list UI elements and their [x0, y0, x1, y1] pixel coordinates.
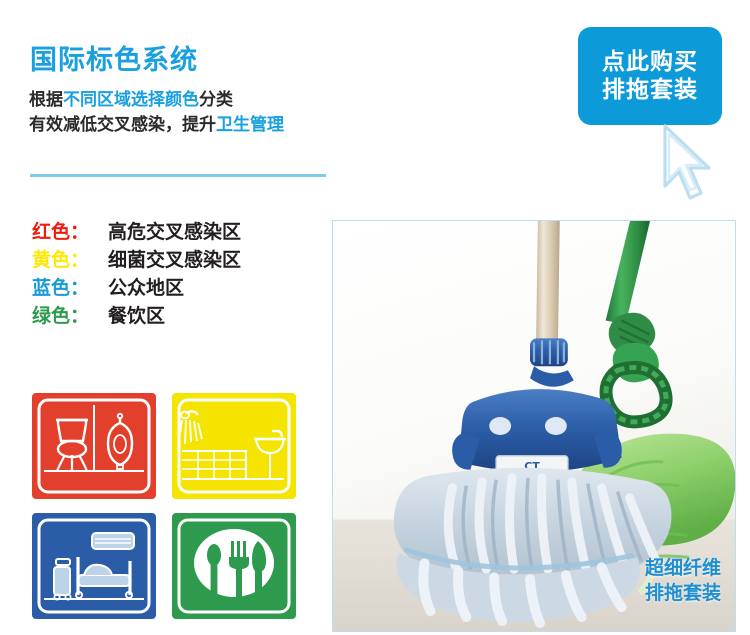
- toilet-urinal-icon: [32, 393, 156, 499]
- promo-page: 国际标色系统 根据不同区域选择颜色分类 有效减低交叉感染，提升卫生管理 红色： …: [0, 0, 750, 635]
- product-photo: CT: [332, 220, 736, 632]
- color-code-legend: 红色： 高危交叉感染区 黄色： 细菌交叉感染区 蓝色： 公众地区 绿色： 餐饮区: [32, 218, 241, 330]
- zone-tile-blue: [32, 513, 156, 619]
- photo-caption-line-1: 超细纤维: [645, 556, 721, 582]
- zone-tile-green: [172, 513, 296, 619]
- subtitle-line1-pre: 根据: [29, 90, 63, 110]
- hotel-bed-icon: [32, 513, 156, 619]
- legend-row-yellow: 黄色： 细菌交叉感染区: [32, 246, 241, 274]
- subtitle-line1-post: 分类: [199, 90, 233, 110]
- legend-row-green: 绿色： 餐饮区: [32, 302, 241, 330]
- subtitle-line-2: 有效减低交叉感染，提升卫生管理: [29, 113, 284, 138]
- legend-value-blue: 公众地区: [108, 274, 184, 302]
- legend-value-yellow: 细菌交叉感染区: [108, 246, 241, 274]
- subtitle-line2-highlight: 卫生管理: [216, 115, 284, 135]
- buy-now-line-1: 点此购买: [602, 48, 698, 76]
- subtitle-block: 根据不同区域选择颜色分类 有效减低交叉感染，提升卫生管理: [29, 88, 284, 137]
- buy-now-line-2: 排拖套装: [602, 76, 698, 104]
- zone-tile-red: [32, 393, 156, 499]
- legend-key-green: 绿色：: [32, 302, 100, 330]
- page-title: 国际标色系统: [30, 46, 198, 76]
- subtitle-line-1: 根据不同区域选择颜色分类: [29, 88, 284, 113]
- buy-now-button[interactable]: 点此购买 排拖套装: [578, 27, 722, 125]
- section-divider: [30, 174, 326, 177]
- subtitle-line1-highlight: 不同区域选择颜色: [63, 90, 199, 110]
- zone-tile-yellow: [172, 393, 296, 499]
- photo-caption: 超细纤维 排拖套装: [645, 556, 721, 607]
- legend-row-blue: 蓝色： 公众地区: [32, 274, 241, 302]
- legend-key-yellow: 黄色：: [32, 246, 100, 274]
- legend-key-red: 红色：: [32, 218, 100, 246]
- zone-pictogram-grid: [32, 393, 296, 619]
- photo-caption-line-2: 排拖套装: [645, 581, 721, 607]
- cutlery-plate-icon: [172, 513, 296, 619]
- subtitle-line2-pre: 有效减低交叉感染，提升: [29, 115, 216, 135]
- shower-washbasin-icon: [172, 393, 296, 499]
- legend-value-green: 餐饮区: [108, 302, 165, 330]
- legend-row-red: 红色： 高危交叉感染区: [32, 218, 241, 246]
- cursor-arrow-icon: [659, 124, 731, 202]
- legend-key-blue: 蓝色：: [32, 274, 100, 302]
- legend-value-red: 高危交叉感染区: [108, 218, 241, 246]
